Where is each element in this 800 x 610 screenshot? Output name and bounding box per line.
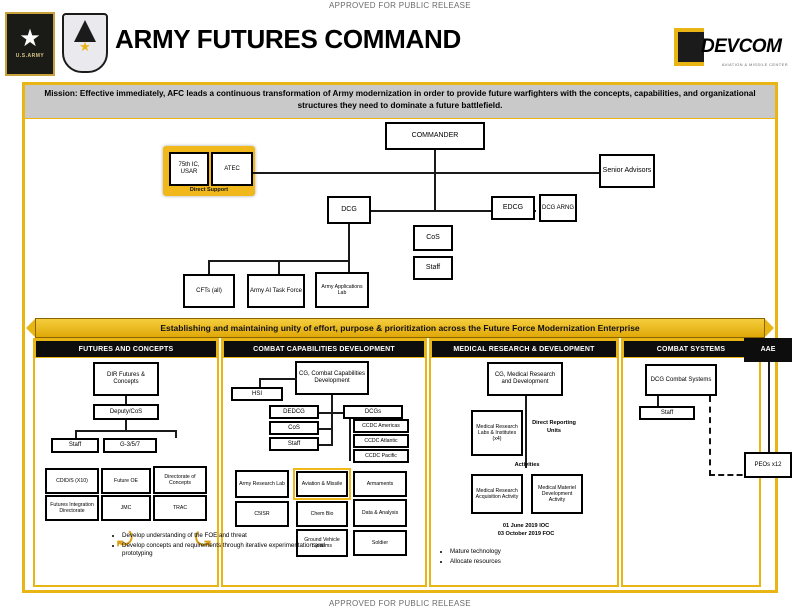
direct-support-label: Direct Support — [165, 187, 253, 193]
content-frame: Mission: Effective immediately, AFC lead… — [22, 82, 778, 593]
connector-spine — [253, 172, 603, 174]
org-box-armaments[interactable]: Armaments — [353, 471, 407, 497]
org-box-edcg[interactable]: EDCG — [491, 196, 535, 220]
org-box-staff-combat-systems[interactable]: Staff — [639, 406, 695, 420]
list-item: Allocate resources — [450, 558, 561, 567]
org-box-cdids[interactable]: CDID/S (X10) — [45, 468, 99, 494]
org-box-75th-ic-usar[interactable]: 75th IC, USAR — [169, 152, 209, 186]
org-box-data-analysis[interactable]: Data & Analysis — [353, 499, 407, 527]
connector-medical-stem — [525, 396, 527, 468]
org-box-hsi[interactable]: HSI — [231, 387, 283, 401]
mission-text: Mission: Effective immediately, AFC lead… — [35, 88, 765, 111]
column-header-ccd: COMBAT CAPABILITIES DEVELOPMENT — [223, 340, 425, 358]
army-star-icon: ★ — [19, 29, 41, 49]
org-box-commander[interactable]: COMMANDER — [385, 122, 485, 150]
org-box-ccdc-atlantic[interactable]: CCDC Atlantic — [353, 434, 409, 448]
column-body-medical: CG, Medical Research and Development Med… — [431, 358, 617, 587]
org-box-medical-research-acquisition-activity[interactable]: Medical Research Acquisition Activity — [471, 474, 523, 514]
connector-staff-drop — [75, 430, 77, 438]
org-box-army-ai-task-force[interactable]: Army AI Task Force — [247, 274, 305, 308]
org-box-soldier[interactable]: Soldier — [353, 530, 407, 556]
ioc-date: 01 June 2019 IOC — [461, 523, 591, 531]
org-box-dedcg[interactable]: DEDCG — [269, 405, 319, 419]
org-box-cfts[interactable]: CFTs (all) — [183, 274, 235, 308]
org-box-directorate-of-concepts[interactable]: Directorate of Concepts — [153, 466, 207, 494]
connector-staff-row — [75, 430, 175, 432]
connector-cft-drop — [208, 260, 210, 274]
column-header-label: FUTURES AND CONCEPTS — [79, 346, 174, 353]
org-box-medical-materiel-development-activity[interactable]: Medical Materiel Development Activity — [531, 474, 583, 514]
column-combat-systems: COMBAT SYSTEMS DCG Combat Systems Staff — [621, 338, 761, 587]
org-box-army-applications-lab[interactable]: Army Applications Lab — [315, 272, 369, 308]
futures-bullets: Develop understanding of the FOE and thr… — [113, 532, 348, 560]
org-box-medical-research-labs[interactable]: Medical Research Labs & Institutes (x4) — [471, 410, 523, 456]
connector-commander-stem — [434, 150, 436, 210]
org-box-dcgs[interactable]: DCGs — [343, 405, 403, 419]
unity-banner-bar: Establishing and maintaining unity of ef… — [35, 318, 765, 338]
org-box-futures-integration-directorate[interactable]: Futures Integration Directorate — [45, 495, 99, 521]
org-box-g357[interactable]: G-3/5/7 — [103, 438, 157, 453]
org-box-trac[interactable]: TRAC — [153, 495, 207, 521]
unity-banner-text: Establishing and maintaining unity of ef… — [160, 323, 639, 333]
org-box-dcg-combat-systems[interactable]: DCG Combat Systems — [645, 364, 717, 396]
org-box-staff-ccd[interactable]: Staff — [269, 437, 319, 451]
connector-ai-drop — [278, 260, 280, 274]
column-body-combat-systems: DCG Combat Systems Staff — [623, 358, 759, 587]
column-header-label: MEDICAL RESEARCH & DEVELOPMENT — [453, 346, 594, 353]
shield-icon: ★ — [62, 13, 108, 73]
mission-statement-banner: Mission: Effective immediately, AFC lead… — [25, 85, 775, 119]
org-box-cos[interactable]: CoS — [413, 225, 453, 251]
us-army-seal-logo: ★ U.S.ARMY — [5, 12, 55, 76]
connector-dir-deputy — [125, 396, 127, 404]
afc-patch-logo: ★ — [62, 13, 104, 71]
org-box-senior-advisors[interactable]: Senior Advisors — [599, 154, 655, 188]
column-header-futures: FUTURES AND CONCEPTS — [35, 340, 217, 358]
devcom-wordmark: DEVCOM — [701, 36, 781, 58]
release-notice-top: APPROVED FOR PUBLIC RELEASE — [0, 1, 800, 10]
page-title: ARMY FUTURES COMMAND — [115, 24, 461, 55]
list-item: Develop understanding of the FOE and thr… — [122, 532, 348, 541]
org-box-chem-bio[interactable]: Chem Bio — [296, 501, 348, 527]
unity-of-effort-banner: Establishing and maintaining unity of ef… — [25, 318, 775, 338]
connector-hsi — [259, 378, 297, 380]
connector-g357-drop — [175, 430, 177, 438]
column-medical-research-development: MEDICAL RESEARCH & DEVELOPMENT CG, Medic… — [429, 338, 619, 587]
devcom-c-mark-icon — [674, 28, 704, 66]
connector-dashed-to-peos — [709, 396, 711, 476]
connector-deputy-down — [125, 420, 127, 430]
org-box-cg-combat-capabilities[interactable]: CG, Combat Capabilities Development — [295, 361, 369, 395]
release-notice-bottom: APPROVED FOR PUBLIC RELEASE — [0, 599, 800, 608]
connector-cg-down — [331, 395, 333, 445]
connector-aae-peos — [768, 362, 770, 452]
column-header-label: COMBAT CAPABILITIES DEVELOPMENT — [253, 346, 395, 353]
activities-label: Activities — [505, 462, 549, 470]
org-box-cg-medical-research[interactable]: CG, Medical Research and Development — [487, 362, 563, 396]
connector-hsi-drop — [259, 378, 261, 387]
direct-reporting-units-label: Direct Reporting Units — [531, 420, 577, 435]
connector-cos-row — [319, 428, 333, 430]
org-box-ccdc-pacific[interactable]: CCDC Pacific — [353, 449, 409, 463]
org-box-future-oe[interactable]: Future OE — [101, 468, 151, 494]
org-box-aae[interactable]: AAE — [744, 338, 792, 362]
column-header-label: COMBAT SYSTEMS — [657, 346, 725, 353]
org-box-jmc[interactable]: JMC — [101, 495, 151, 521]
star-icon: ★ — [79, 39, 91, 55]
banner-right-arrow-icon — [764, 318, 774, 338]
connector-staff-row-ccd — [319, 444, 333, 446]
medical-bullets: Mature technology Allocate resources — [441, 548, 561, 567]
org-box-c5isr[interactable]: C5ISR — [235, 501, 289, 527]
org-box-aviation-missile[interactable]: Aviation & Missile — [296, 471, 348, 497]
army-seal-label: U.S.ARMY — [16, 53, 44, 59]
org-box-army-research-lab[interactable]: Army Research Lab — [235, 470, 289, 498]
org-box-peos[interactable]: PEOs x12 — [744, 452, 792, 478]
org-box-ccdc-americas[interactable]: CCDC Americas — [353, 419, 409, 433]
list-item: Mature technology — [450, 548, 561, 557]
foc-date: 03 October 2019 FOC — [461, 531, 591, 539]
direct-support-group: 75th IC, USAR ATEC Direct Support — [163, 146, 255, 196]
org-box-deputy-cos[interactable]: Deputy/CoS — [93, 404, 159, 420]
column-header-medical: MEDICAL RESEARCH & DEVELOPMENT — [431, 340, 617, 358]
org-box-dcg-arng[interactable]: DCG ARNG — [539, 194, 577, 222]
devcom-subtitle: AVIATION & MISSILE CENTER — [722, 62, 788, 67]
connector-dcgs-down — [349, 419, 351, 461]
org-box-dir-futures-concepts[interactable]: DIR Futures & Concepts — [93, 362, 159, 396]
org-box-staff-futures[interactable]: Staff — [51, 438, 99, 453]
list-item: Develop concepts and requirements throug… — [122, 542, 348, 559]
org-box-staff[interactable]: Staff — [413, 256, 453, 280]
connector-cs-staff — [657, 396, 659, 406]
org-box-atec[interactable]: ATEC — [211, 152, 253, 186]
page-header: ★ U.S.ARMY ★ ARMY FUTURES COMMAND DEVCOM… — [0, 10, 800, 72]
command-org-chart: 75th IC, USAR ATEC Direct Support COMMAN… — [25, 120, 775, 316]
devcom-logo: DEVCOM AVIATION & MISSILE CENTER — [674, 26, 792, 68]
column-header-combat-systems: COMBAT SYSTEMS — [623, 340, 759, 358]
org-box-dcg[interactable]: DCG — [327, 196, 371, 224]
connector-dedcg-row — [319, 412, 343, 414]
org-box-cos-ccd[interactable]: CoS — [269, 421, 319, 435]
connector-dcg-down — [348, 224, 350, 260]
